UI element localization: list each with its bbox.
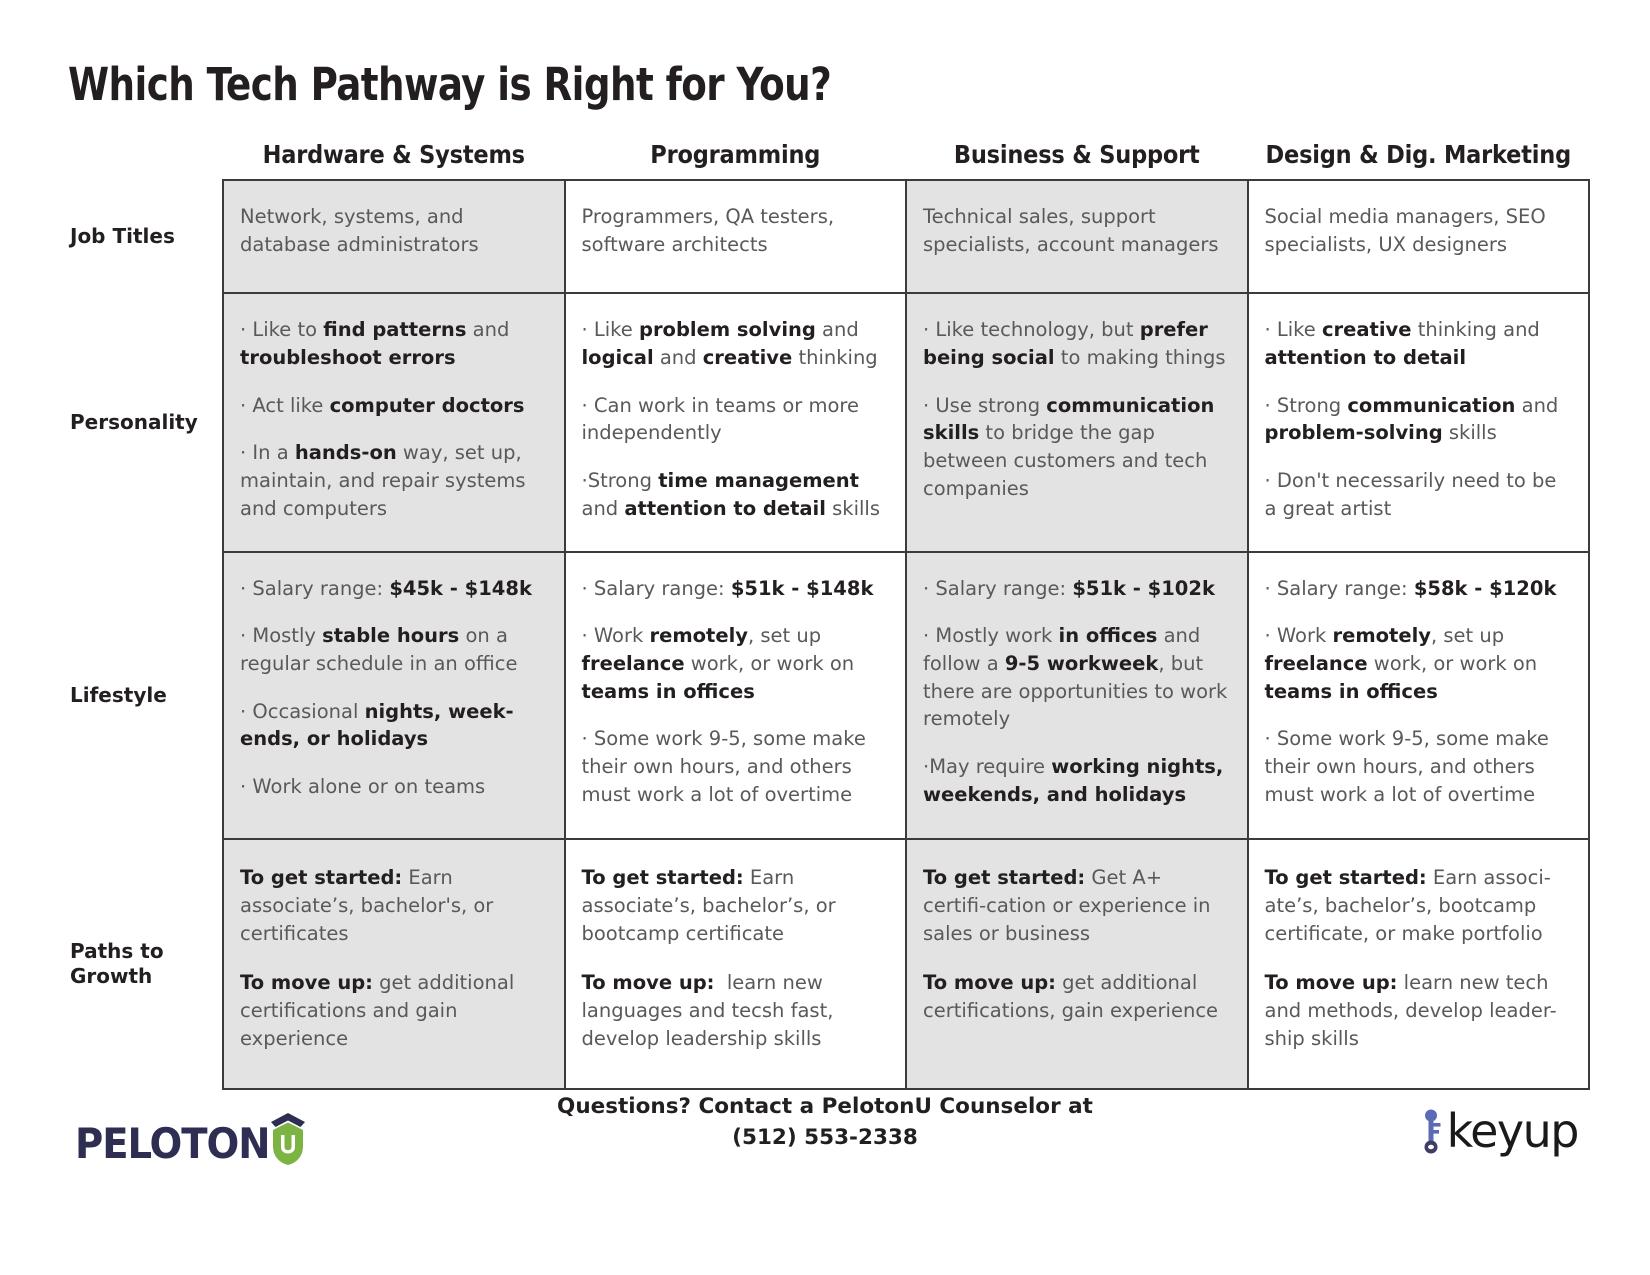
keyup-key-icon: [1420, 1108, 1446, 1154]
cell-paths-programming: To get started: Earn associate’s, bachel…: [565, 839, 907, 1089]
footer-contact-text: Questions? Contact a PelotonU Counselor …: [557, 1091, 1093, 1153]
cell-lifestyle-programming: · Salary range: $51k - $148k· Work remot…: [565, 552, 907, 840]
column-header-programming: Programming: [565, 140, 907, 180]
cell-paths-hardware-systems: To get started: Earn associate’s, bachel…: [223, 839, 565, 1089]
cell-job-titles-programming: Programmers, QA testers, software archit…: [565, 180, 907, 293]
column-header-hardware-systems: Hardware & Systems: [223, 140, 565, 180]
row-label-paths-to-growth: Paths to Growth: [68, 839, 223, 1089]
corner-cell: [68, 140, 223, 180]
row-label-lifestyle: Lifestyle: [68, 552, 223, 840]
column-header-business-support: Business & Support: [906, 140, 1248, 180]
cell-lifestyle-business-support: · Salary range: $51k - $102k· Mostly wor…: [906, 552, 1248, 840]
pathway-comparison-table: Hardware & Systems Programming Business …: [68, 140, 1589, 1090]
table-row-paths-to-growth: Paths to Growth To get started: Earn ass…: [68, 839, 1589, 1089]
matrix-table: Hardware & Systems Programming Business …: [68, 140, 1590, 1090]
footer-contact-line-2: (512) 553-2338: [557, 1122, 1093, 1153]
cell-personality-hardware-systems: · Like to find patterns and troubleshoot…: [223, 293, 565, 551]
pelotonu-logo: PELOTON: [75, 1105, 308, 1165]
cell-paths-business-support: To get started: Get A+ certifi-cation or…: [906, 839, 1248, 1089]
cell-paths-design-digital-marketing: To get started: Earn associ-ate’s, bache…: [1248, 839, 1590, 1089]
cell-job-titles-design-digital-marketing: Social media managers, SEO specialists, …: [1248, 180, 1590, 293]
cell-job-titles-hardware-systems: Network, systems, and database administr…: [223, 180, 565, 293]
table-row-personality: Personality · Like to find patterns and …: [68, 293, 1589, 551]
row-label-personality: Personality: [68, 293, 223, 551]
cell-lifestyle-design-digital-marketing: · Salary range: $58k - $120k· Work remot…: [1248, 552, 1590, 840]
table-header: Hardware & Systems Programming Business …: [68, 140, 1589, 180]
table-row-lifestyle: Lifestyle · Salary range: $45k - $148k· …: [68, 552, 1589, 840]
cell-job-titles-business-support: Technical sales, support specialists, ac…: [906, 180, 1248, 293]
page-title: Which Tech Pathway is Right for You?: [68, 58, 831, 111]
cell-personality-business-support: · Like technology, but prefer being soci…: [906, 293, 1248, 551]
table-row-job-titles: Job Titles Network, systems, and databas…: [68, 180, 1589, 293]
cell-lifestyle-hardware-systems: · Salary range: $45k - $148k· Mostly sta…: [223, 552, 565, 840]
keyup-wordmark: keyup: [1447, 1108, 1578, 1154]
table-body: Job Titles Network, systems, and databas…: [68, 180, 1589, 1089]
cell-personality-design-digital-marketing: · Like creative thinking and attention t…: [1248, 293, 1590, 551]
row-label-job-titles: Job Titles: [68, 180, 223, 293]
pelotonu-shield-icon: [268, 1113, 308, 1165]
pelotonu-wordmark: PELOTON: [75, 1123, 270, 1165]
column-header-design-digital-marketing: Design & Dig. Marketing: [1248, 140, 1590, 180]
cell-personality-programming: · Like problem solving and logical and c…: [565, 293, 907, 551]
column-header-row: Hardware & Systems Programming Business …: [68, 140, 1589, 180]
keyup-logo: keyup: [1420, 1101, 1578, 1161]
page-footer: PELOTON Questions? Contact a PelotonU Co…: [0, 1085, 1650, 1205]
footer-contact-line-1: Questions? Contact a PelotonU Counselor …: [557, 1091, 1093, 1122]
worksheet-page: Which Tech Pathway is Right for You? Har…: [0, 0, 1650, 1275]
